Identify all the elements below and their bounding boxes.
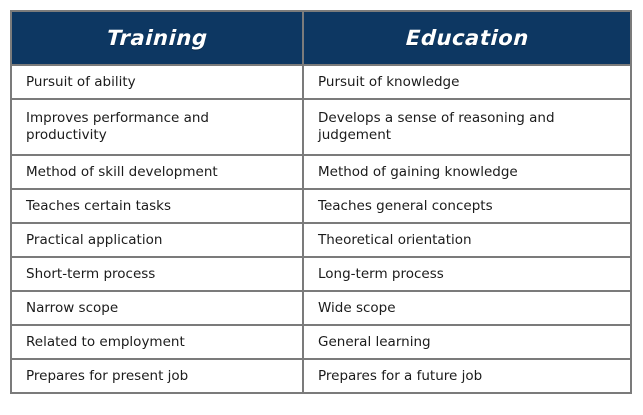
cell-line: Related to employment — [26, 334, 292, 351]
cell-education: General learning — [302, 326, 632, 360]
page-canvas: Training Education Pursuit of ability Pu… — [0, 0, 643, 415]
cell-training: Prepares for present job — [10, 360, 302, 394]
cell-line: Pursuit of ability — [26, 74, 292, 91]
cell-line: Prepares for a future job — [318, 368, 620, 385]
cell-education: Theoretical orientation — [302, 224, 632, 258]
cell-line: Teaches general concepts — [318, 198, 620, 215]
cell-training: Method of skill development — [10, 156, 302, 190]
cell-line: Pursuit of knowledge — [318, 74, 620, 91]
table-row: Practical application Theoretical orient… — [10, 224, 632, 258]
cell-line: Develops a sense of reasoning and — [318, 110, 620, 127]
cell-line: Method of skill development — [26, 164, 292, 181]
column-header-training-label: Training — [106, 26, 208, 50]
table-row: Teaches certain tasks Teaches general co… — [10, 190, 632, 224]
cell-line: Method of gaining knowledge — [318, 164, 620, 181]
cell-line: Short-term process — [26, 266, 292, 283]
cell-training: Short-term process — [10, 258, 302, 292]
table-row: Prepares for present job Prepares for a … — [10, 360, 632, 394]
cell-line: Theoretical orientation — [318, 232, 620, 249]
cell-education: Pursuit of knowledge — [302, 66, 632, 100]
cell-education: Long-term process — [302, 258, 632, 292]
cell-education: Teaches general concepts — [302, 190, 632, 224]
table-header: Training Education — [10, 10, 632, 66]
cell-education: Method of gaining knowledge — [302, 156, 632, 190]
cell-education: Wide scope — [302, 292, 632, 326]
cell-line: Prepares for present job — [26, 368, 292, 385]
cell-training: Teaches certain tasks — [10, 190, 302, 224]
column-header-education: Education — [302, 10, 632, 66]
cell-training: Narrow scope — [10, 292, 302, 326]
comparison-table-container: Training Education Pursuit of ability Pu… — [10, 10, 632, 405]
cell-line: Teaches certain tasks — [26, 198, 292, 215]
cell-line: Long-term process — [318, 266, 620, 283]
cell-education: Prepares for a future job — [302, 360, 632, 394]
cell-education: Develops a sense of reasoning and judgem… — [302, 100, 632, 156]
column-header-education-label: Education — [405, 26, 529, 50]
cell-line: Narrow scope — [26, 300, 292, 317]
cell-line: Wide scope — [318, 300, 620, 317]
cell-training: Practical application — [10, 224, 302, 258]
cell-training: Pursuit of ability — [10, 66, 302, 100]
cell-line: Improves performance and — [26, 110, 292, 127]
table-body: Pursuit of ability Pursuit of knowledge … — [10, 66, 632, 394]
cell-line: judgement — [318, 127, 620, 144]
table-row: Narrow scope Wide scope — [10, 292, 632, 326]
table-row: Improves performance and productivity De… — [10, 100, 632, 156]
table-header-row: Training Education — [10, 10, 632, 66]
training-vs-education-table: Training Education Pursuit of ability Pu… — [10, 10, 632, 394]
cell-line: productivity — [26, 127, 292, 144]
column-header-training: Training — [10, 10, 302, 66]
table-row: Short-term process Long-term process — [10, 258, 632, 292]
cell-line: Practical application — [26, 232, 292, 249]
cell-training: Related to employment — [10, 326, 302, 360]
cell-training: Improves performance and productivity — [10, 100, 302, 156]
table-row: Related to employment General learning — [10, 326, 632, 360]
table-row: Method of skill development Method of ga… — [10, 156, 632, 190]
table-row: Pursuit of ability Pursuit of knowledge — [10, 66, 632, 100]
cell-line: General learning — [318, 334, 620, 351]
